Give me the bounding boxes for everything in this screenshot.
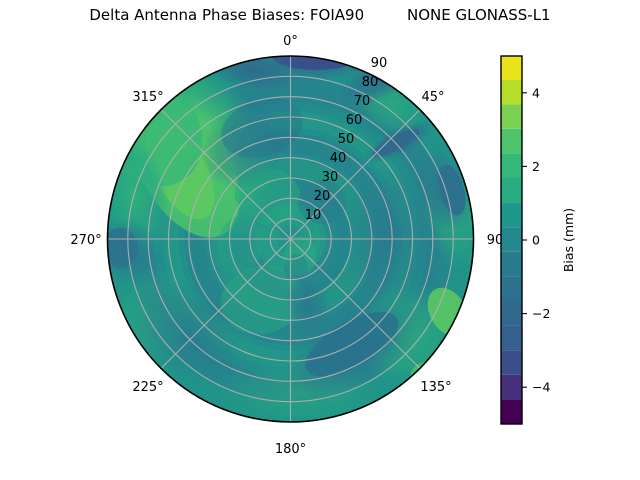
radial-label-10: 10 <box>305 208 322 223</box>
azimuth-label-135: 135° <box>420 380 451 395</box>
radial-label-30: 30 <box>322 170 339 185</box>
figure-canvas: Delta Antenna Phase Biases: FOIA90 NONE … <box>0 0 640 480</box>
radial-label-80: 80 <box>362 75 379 90</box>
polar-grid <box>108 56 474 422</box>
azimuth-label-315: 315° <box>132 90 163 105</box>
colorbar-band <box>501 178 522 203</box>
colorbar-band <box>501 252 522 277</box>
colorbar-tick-label-2: 2 <box>532 159 540 174</box>
colorbar-tick-label-neg2: −2 <box>532 306 550 321</box>
azimuth-label-225: 225° <box>132 380 163 395</box>
colorbar-band <box>501 375 522 400</box>
radial-label-50: 50 <box>338 132 355 147</box>
azimuth-label-180: 180° <box>275 442 306 457</box>
radial-label-20: 20 <box>314 189 331 204</box>
colorbar-tick-label-0: 0 <box>532 233 540 248</box>
azimuth-label-0: 0° <box>283 34 298 49</box>
colorbar-band <box>501 56 522 80</box>
radial-label-60: 60 <box>346 113 363 128</box>
colorbar-band <box>501 203 522 228</box>
radial-label-90: 90 <box>371 56 388 71</box>
colorbar-band <box>501 399 522 424</box>
colorbar-band <box>501 301 522 326</box>
colorbar-band <box>501 326 522 351</box>
colorbar-bands <box>501 56 522 424</box>
colorbar-tick-label-4: 4 <box>532 85 540 100</box>
colorbar-band <box>501 227 522 252</box>
colorbar-axis-title: Bias (mm) <box>561 208 576 272</box>
colorbar-band <box>501 104 522 129</box>
colorbar[interactable]: 4 2 0 −2 −4 Bias (mm) <box>501 56 576 424</box>
colorbar-band <box>501 80 522 105</box>
azimuth-label-270: 270° <box>70 233 101 248</box>
polar-skyplot: 0° 45° 90 135° 180° 225° 270° 315° 10 20… <box>0 0 640 480</box>
colorbar-band <box>501 129 522 154</box>
radial-label-40: 40 <box>330 151 347 166</box>
radial-label-70: 70 <box>354 94 371 109</box>
colorbar-band <box>501 350 522 375</box>
contour-field <box>76 24 493 426</box>
colorbar-tick-label-neg4: −4 <box>532 380 550 395</box>
colorbar-band <box>501 153 522 178</box>
colorbar-ticks <box>522 93 527 387</box>
colorbar-band <box>501 276 522 301</box>
azimuth-label-45: 45° <box>421 90 444 105</box>
